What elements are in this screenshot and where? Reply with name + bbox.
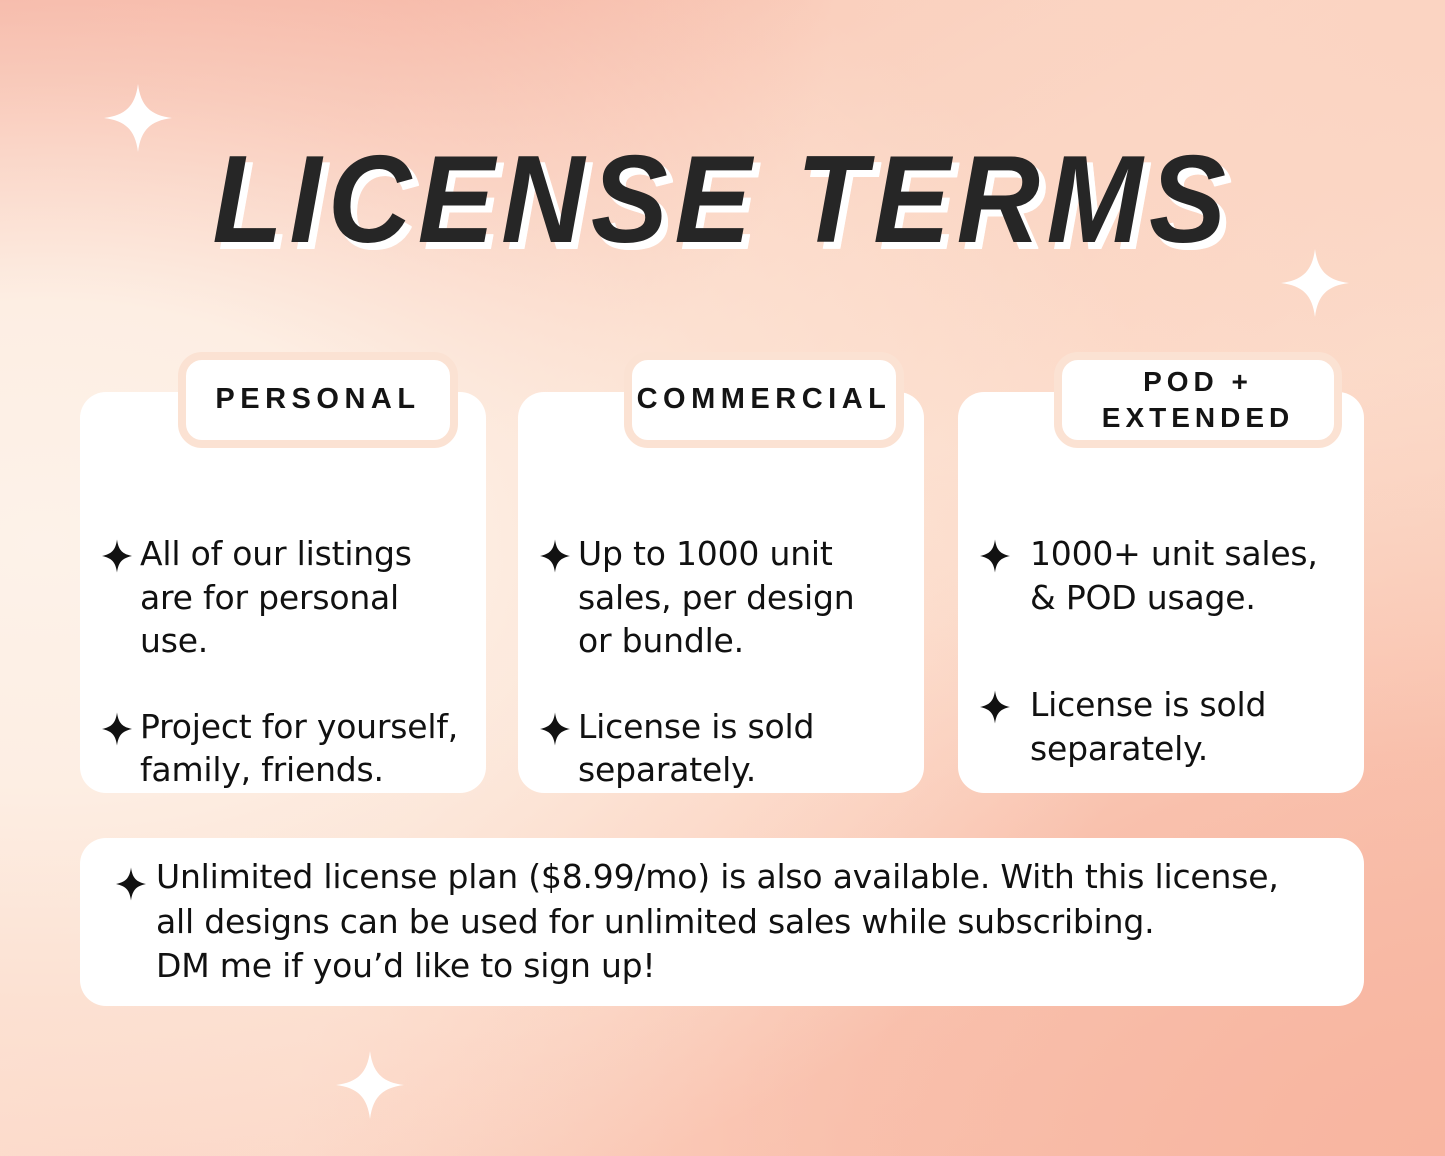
list-item: License is sold separately. bbox=[540, 705, 902, 792]
list-item-text: All of our listings are for personal use… bbox=[140, 532, 412, 663]
four-point-star-icon bbox=[980, 539, 1010, 573]
plan-tab-commercial-label: COMMERCIAL bbox=[637, 381, 892, 418]
four-point-star-icon bbox=[980, 690, 1010, 724]
list-item-text: License is sold separately. bbox=[578, 705, 814, 792]
plan-tab-commercial: COMMERCIAL bbox=[624, 352, 904, 448]
page-title-container: LICENSE TERMS bbox=[0, 138, 1445, 262]
plan-card-personal-body: All of our listings are for personal use… bbox=[80, 488, 486, 792]
plan-card-commercial: Up to 1000 unit sales, per design or bun… bbox=[518, 392, 924, 793]
four-point-star-icon bbox=[102, 539, 132, 573]
plan-card-pod-extended: 1000+ unit sales, & POD usage. License i… bbox=[958, 392, 1364, 793]
list-item-text: 1000+ unit sales, & POD usage. bbox=[1030, 532, 1318, 619]
four-point-star-icon bbox=[540, 539, 570, 573]
list-item: 1000+ unit sales, & POD usage. bbox=[980, 532, 1342, 619]
plan-cards: All of our listings are for personal use… bbox=[80, 352, 1364, 793]
plan-tab-pod-extended-label: POD + EXTENDED bbox=[1102, 364, 1294, 436]
list-item: All of our listings are for personal use… bbox=[102, 532, 464, 663]
license-terms-poster: LICENSE TERMS All of our listings are fo… bbox=[0, 0, 1445, 1156]
list-item: License is sold separately. bbox=[980, 683, 1342, 770]
sparkle-icon-bottom-center bbox=[336, 1051, 404, 1119]
page-title: LICENSE TERMS bbox=[212, 138, 1232, 262]
list-item-text: Project for yourself, family, friends. bbox=[140, 705, 458, 792]
plan-tab-pod-extended: POD + EXTENDED bbox=[1054, 352, 1342, 448]
unlimited-plan-banner-text: Unlimited license plan ($8.99/mo) is als… bbox=[156, 855, 1279, 990]
list-item-text: License is sold separately. bbox=[1030, 683, 1266, 770]
plan-card-pod-extended-body: 1000+ unit sales, & POD usage. License i… bbox=[958, 488, 1364, 834]
four-point-star-icon bbox=[540, 712, 570, 746]
unlimited-plan-banner: Unlimited license plan ($8.99/mo) is als… bbox=[80, 838, 1364, 1006]
unlimited-plan-banner-inner: Unlimited license plan ($8.99/mo) is als… bbox=[80, 855, 1317, 990]
list-item-text: Up to 1000 unit sales, per design or bun… bbox=[578, 532, 854, 663]
four-point-star-icon bbox=[102, 712, 132, 746]
plan-tab-personal: PERSONAL bbox=[178, 352, 458, 448]
plan-card-personal: All of our listings are for personal use… bbox=[80, 392, 486, 793]
four-point-star-icon bbox=[116, 867, 146, 901]
plan-tab-personal-label: PERSONAL bbox=[215, 381, 420, 418]
list-item: Up to 1000 unit sales, per design or bun… bbox=[540, 532, 902, 663]
list-item: Project for yourself, family, friends. bbox=[102, 705, 464, 792]
plan-card-commercial-body: Up to 1000 unit sales, per design or bun… bbox=[518, 488, 924, 792]
